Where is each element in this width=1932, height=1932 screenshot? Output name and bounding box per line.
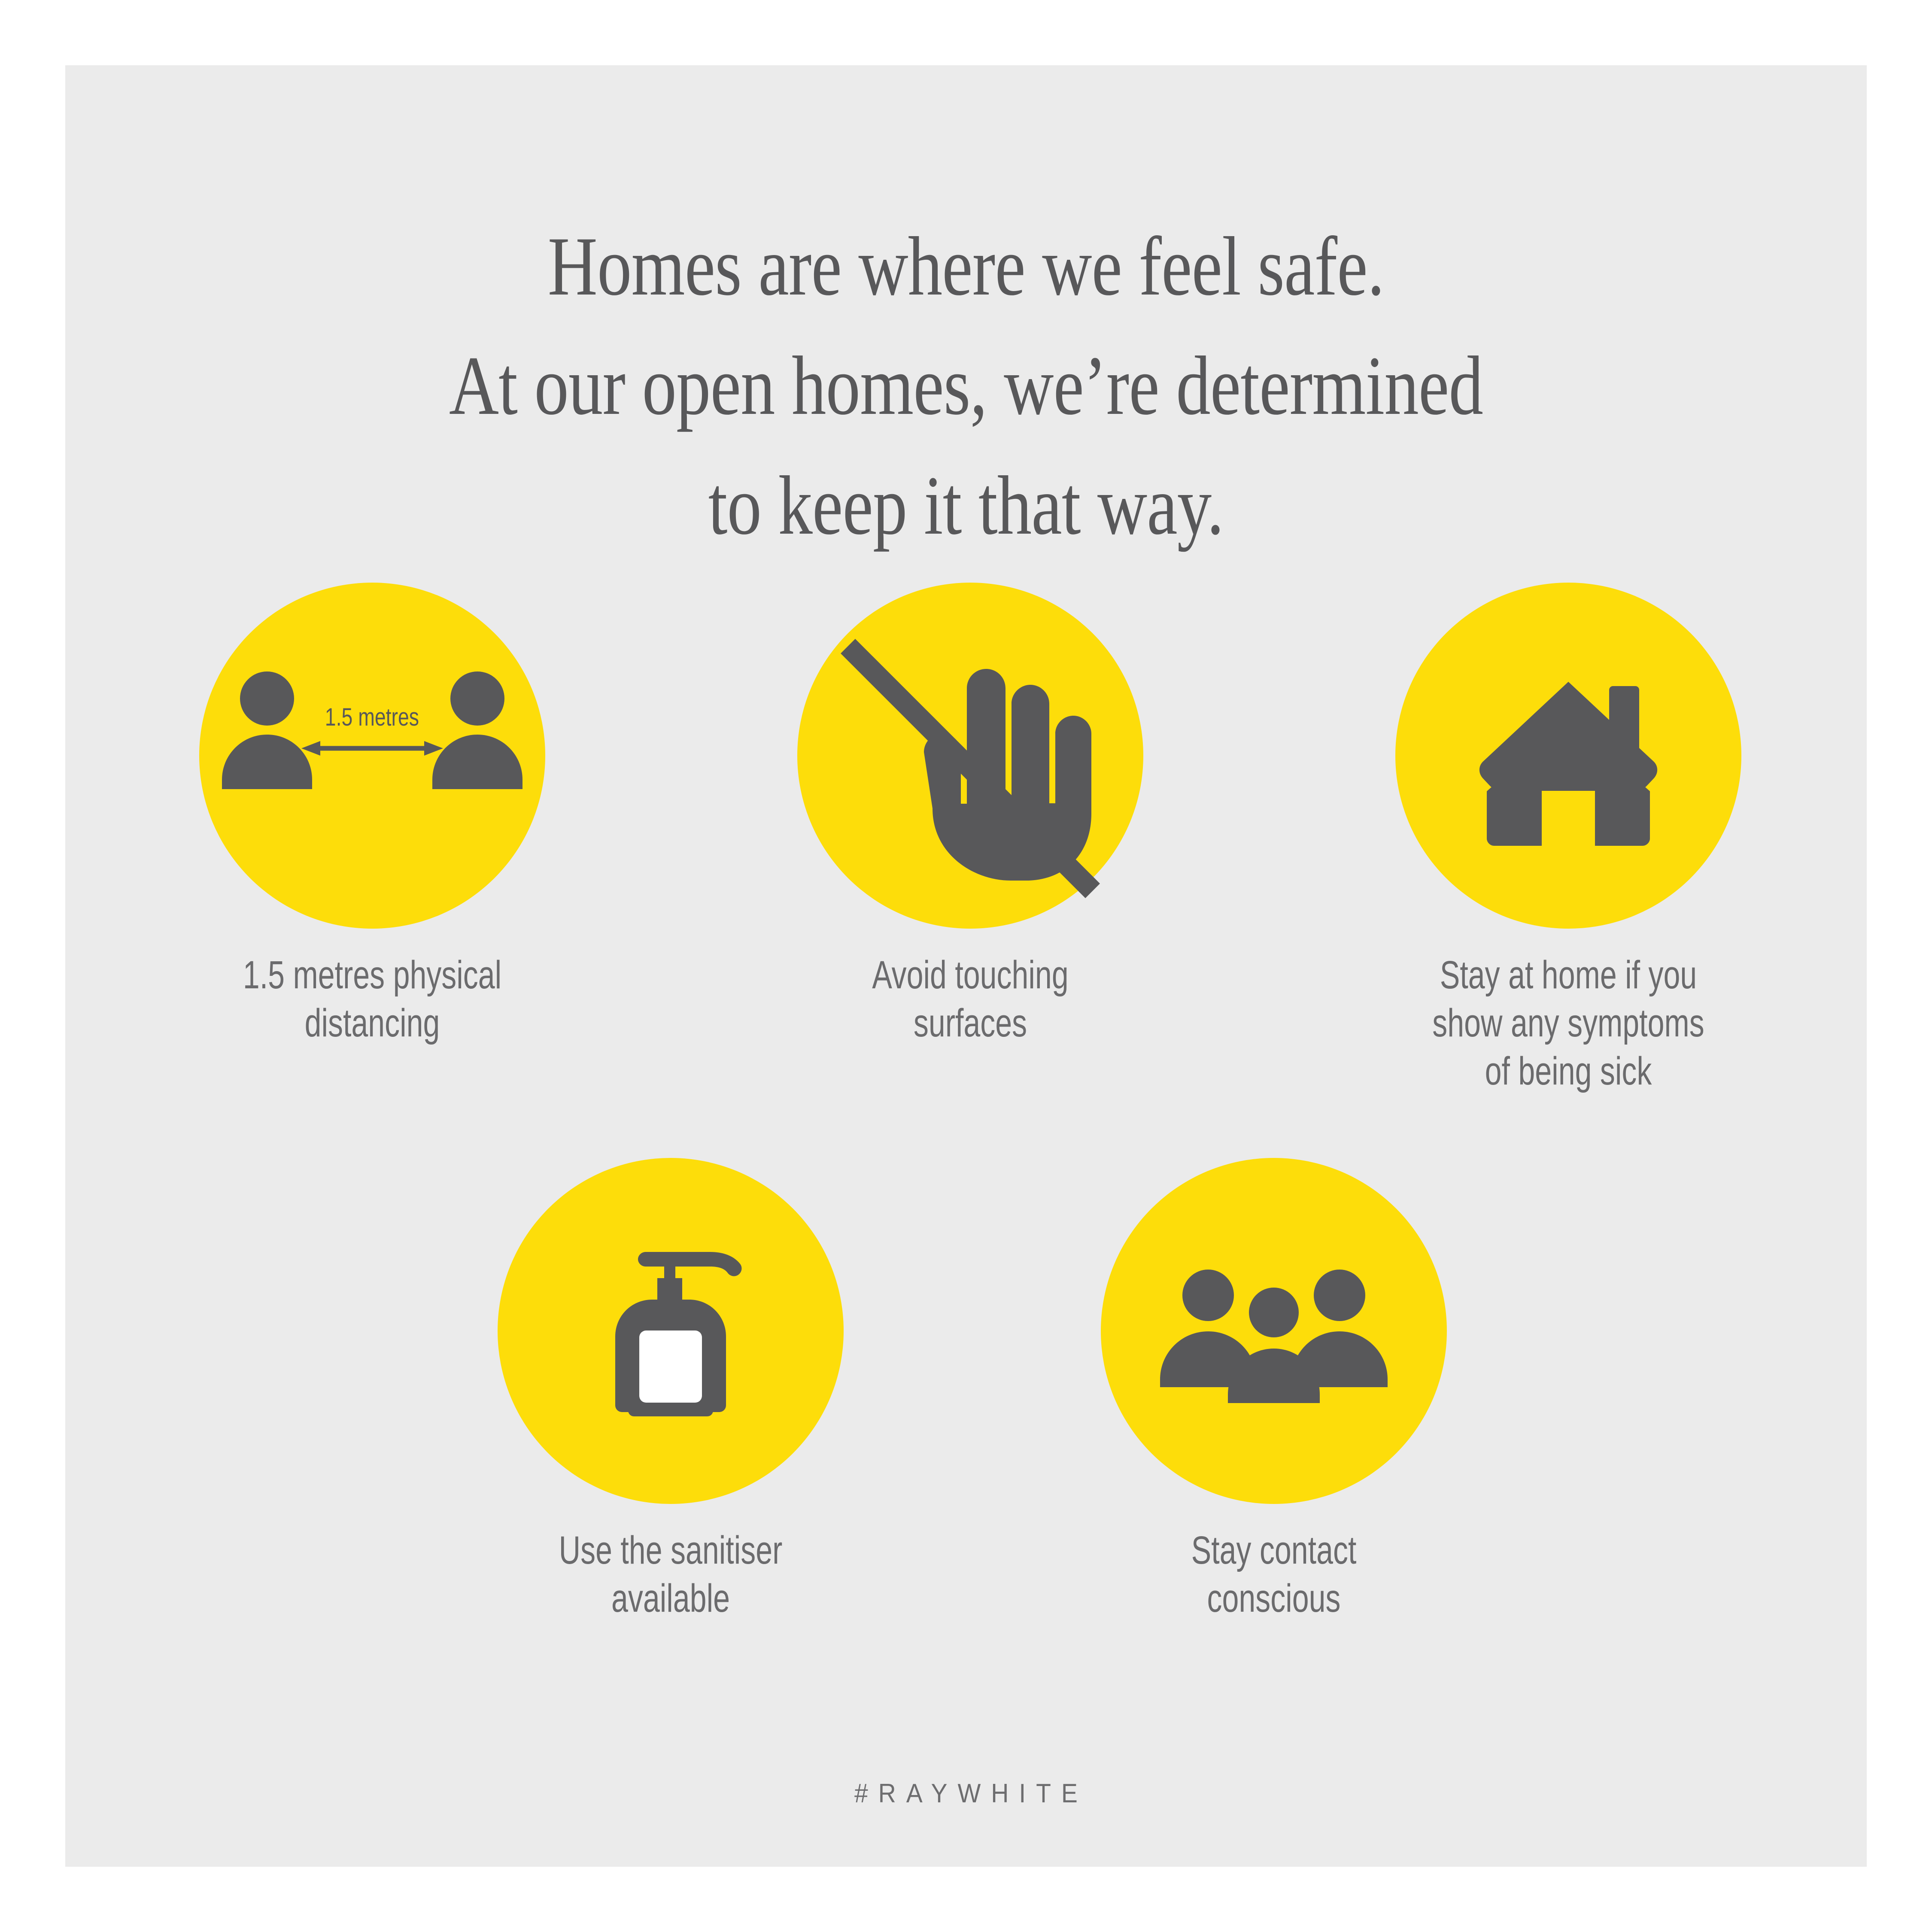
icon-circle — [498, 1158, 844, 1504]
tile-caption: 1.5 metres physical distancing — [209, 951, 535, 1047]
tile-avoid-touching: Avoid touching surfaces — [756, 583, 1185, 1047]
distance-label: 1.5 metres — [325, 703, 419, 731]
icon-circle — [797, 583, 1143, 929]
poster-card: Homes are where we feel safe. At our ope… — [65, 65, 1867, 1867]
page-title: Homes are where we feel safe. At our ope… — [228, 207, 1705, 565]
brand-hashtag: #RAYWHITE — [137, 1778, 1795, 1809]
bottle-label — [639, 1331, 702, 1403]
tile-caption: Stay contact conscious — [1111, 1526, 1437, 1622]
icon-circle: 1.5 metres — [199, 583, 545, 929]
physical-distancing-icon: 1.5 metres — [199, 583, 545, 929]
tile-use-sanitiser: Use the sanitiser available — [456, 1158, 885, 1622]
tile-caption: Avoid touching surfaces — [807, 951, 1133, 1047]
tile-caption: Stay at home if you show any symptoms of… — [1405, 951, 1732, 1096]
tile-caption: Use the sanitiser available — [507, 1526, 834, 1622]
tile-row-bottom: Use the sanitiser available — [65, 1158, 1867, 1630]
icon-circle — [1101, 1158, 1447, 1504]
icon-circle — [1395, 583, 1741, 929]
tile-stay-at-home: Stay at home if you show any symptoms of… — [1354, 583, 1783, 1096]
house-icon — [1395, 583, 1741, 929]
no-touching-hand-icon — [797, 583, 1143, 929]
tile-row-top: 1.5 metres 1.5 metres physical distancin… — [65, 583, 1867, 1055]
group-of-people-icon — [1101, 1158, 1447, 1504]
sanitiser-bottle-icon — [498, 1158, 844, 1504]
tile-physical-distancing: 1.5 metres 1.5 metres physical distancin… — [158, 583, 587, 1047]
tile-stay-contact-conscious: Stay contact conscious — [1059, 1158, 1488, 1622]
